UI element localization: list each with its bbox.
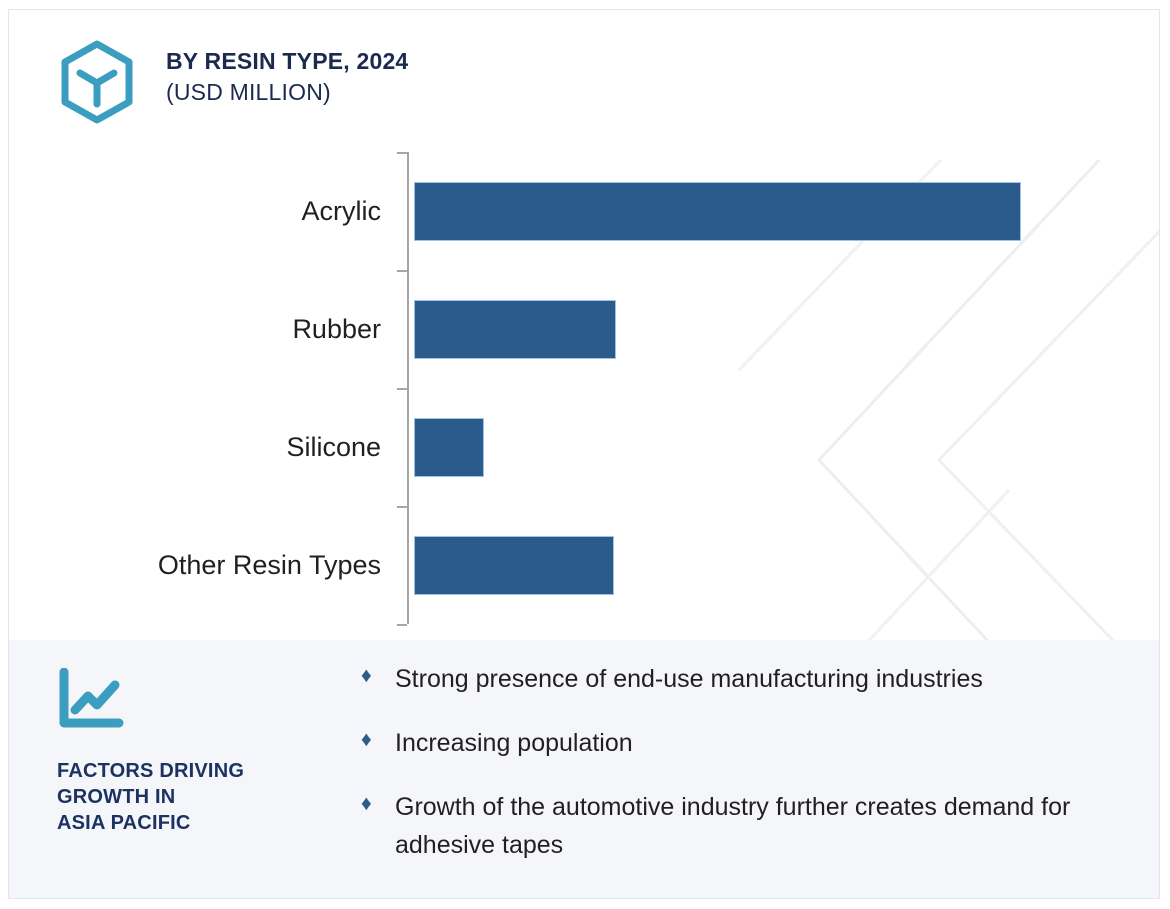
chart-bar[interactable]	[414, 418, 484, 477]
factors-bullet-list: ♦Strong presence of end-use manufacturin…	[361, 660, 1131, 890]
factors-panel-heading: FACTORS DRIVING GROWTH IN ASIA PACIFIC	[57, 758, 357, 836]
chart-bar-row: Acrylic	[9, 152, 1160, 270]
heading-line-3: ASIA PACIFIC	[57, 810, 357, 836]
factors-panel-left: FACTORS DRIVING GROWTH IN ASIA PACIFIC	[57, 668, 357, 836]
chart-category-label: Other Resin Types	[158, 506, 381, 624]
heading-line-2: GROWTH IN	[57, 784, 357, 810]
factor-bullet-text: Increasing population	[395, 724, 633, 762]
heading-line-1: FACTORS DRIVING	[57, 758, 357, 784]
factor-bullet-item: ♦Increasing population	[361, 724, 1131, 762]
factor-bullet-item: ♦Strong presence of end-use manufacturin…	[361, 660, 1131, 698]
line-chart-icon	[57, 668, 125, 730]
chart-category-label: Rubber	[292, 270, 381, 388]
factors-panel: FACTORS DRIVING GROWTH IN ASIA PACIFIC ♦…	[9, 640, 1160, 898]
diamond-bullet-icon: ♦	[361, 724, 395, 756]
chart-category-label: Acrylic	[302, 152, 382, 270]
hexagon-y-icon	[57, 40, 137, 124]
page-subtitle: (USD MILLION)	[166, 76, 408, 108]
chart-bar[interactable]	[414, 300, 616, 359]
chart-category-label: Silicone	[286, 388, 381, 506]
chart-bar-row: Rubber	[9, 270, 1160, 388]
title-block: BY RESIN TYPE, 2024 (USD MILLION)	[166, 46, 408, 108]
factor-bullet-text: Strong presence of end-use manufacturing…	[395, 660, 983, 698]
chart-bar[interactable]	[414, 536, 614, 595]
chart-bar[interactable]	[414, 182, 1021, 241]
chart-bar-row: Silicone	[9, 388, 1160, 506]
page-title: BY RESIN TYPE, 2024	[166, 46, 408, 76]
diamond-bullet-icon: ♦	[361, 660, 395, 692]
chart-axis-tick	[397, 624, 407, 626]
factor-bullet-text: Growth of the automotive industry furthe…	[395, 788, 1131, 864]
infographic-card: BY RESIN TYPE, 2024 (USD MILLION) Acryli…	[8, 9, 1160, 899]
bar-chart: AcrylicRubberSiliconeOther Resin Types	[9, 142, 1160, 642]
card-header: BY RESIN TYPE, 2024 (USD MILLION)	[9, 10, 1159, 142]
factor-bullet-item: ♦Growth of the automotive industry furth…	[361, 788, 1131, 864]
chart-bar-row: Other Resin Types	[9, 506, 1160, 624]
diamond-bullet-icon: ♦	[361, 788, 395, 820]
